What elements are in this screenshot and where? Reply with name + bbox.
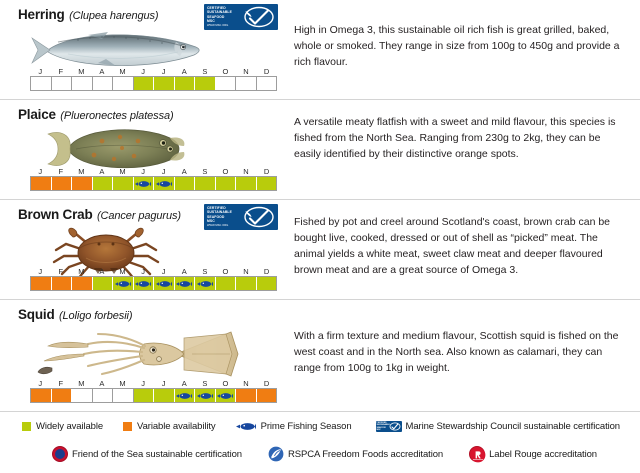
month-label: J [153, 267, 174, 276]
month-labels: J F M A M J J A S O N D [30, 379, 277, 388]
month-cell [195, 177, 216, 190]
month-label: A [92, 167, 113, 176]
month-label: A [174, 67, 195, 76]
month-cell [195, 389, 216, 402]
species-left-column: Squid (Loligo forbesii) [0, 300, 288, 411]
month-cell [52, 177, 73, 190]
month-cell [154, 389, 175, 402]
month-label: F [51, 67, 72, 76]
availability-calendar: J F M A M J J A S O N D [30, 67, 277, 91]
month-label: A [92, 267, 113, 276]
label-rouge-icon [469, 446, 485, 462]
month-labels: J F M A M J J A S O N D [30, 267, 277, 276]
month-label: J [153, 167, 174, 176]
month-cell [195, 277, 216, 290]
month-label: O [215, 267, 236, 276]
species-description: With a firm texture and medium flavour, … [294, 328, 630, 376]
month-label: J [30, 267, 51, 276]
month-label: S [195, 67, 216, 76]
legend-item-variable-availability: Variable availability [123, 421, 216, 432]
month-cell [52, 277, 73, 290]
species-right-column: High in Omega 3, this sustainable oil ri… [288, 0, 640, 99]
month-label: S [195, 167, 216, 176]
availability-cells [30, 76, 277, 91]
month-cell [257, 389, 277, 402]
month-label: J [30, 167, 51, 176]
month-label: N [236, 379, 257, 388]
month-label: M [112, 67, 133, 76]
month-label: J [133, 167, 154, 176]
month-cell [195, 77, 216, 90]
species-description: High in Omega 3, this sustainable oil ri… [294, 22, 630, 70]
legend-label: Prime Fishing Season [261, 421, 352, 432]
friend-of-the-sea-icon [52, 446, 68, 462]
species-title: Squid (Loligo forbesii) [18, 306, 288, 324]
month-label: F [51, 167, 72, 176]
plaice-illustration [18, 126, 288, 172]
legend-item-rspca-freedom-foods: RSPCA Freedom Foods accreditation [268, 446, 443, 462]
legend-item-prime-fishing-season: Prime Fishing Season [236, 421, 352, 432]
month-label: F [51, 267, 72, 276]
species-latin: (Cancer pagurus) [97, 210, 181, 222]
month-label: M [71, 267, 92, 276]
legend-label: Widely available [36, 421, 103, 432]
month-label: J [133, 67, 154, 76]
month-cell [93, 277, 114, 290]
availability-calendar: J F M A M J J A S O N D [30, 267, 277, 291]
month-cell [236, 277, 257, 290]
month-cell [93, 389, 114, 402]
species-name: Squid [18, 307, 55, 322]
species-description: Fished by pot and creel around Scotland'… [294, 214, 630, 278]
month-cell [257, 277, 277, 290]
month-cell [134, 77, 155, 90]
species-row-brown-crab: Brown Crab (Cancer pagurus) CERTIFIED SU… [0, 200, 640, 300]
month-label: N [236, 267, 257, 276]
species-description: A versatile meaty flatfish with a sweet … [294, 114, 630, 162]
species-left-column: Plaice (Plueronectes platessa) [0, 100, 288, 199]
legend: Widely available Variable availability P… [0, 415, 640, 473]
species-name: Plaice [18, 107, 56, 122]
legend-item-msc-certification: CERTIFIEDSUSTAINABLESEAFOODMSC Marine St… [376, 421, 620, 432]
species-right-column: Fished by pot and creel around Scotland'… [288, 200, 640, 299]
species-right-column: With a firm texture and medium flavour, … [288, 300, 640, 411]
legend-item-widely-available: Widely available [22, 421, 103, 432]
month-cell [175, 177, 196, 190]
species-left-column: Herring (Clupea harengus) CERTIFIED SUST… [0, 0, 288, 99]
month-label: A [174, 379, 195, 388]
month-label: D [256, 167, 277, 176]
month-cell [31, 277, 52, 290]
msc-badge-text: CERTIFIED SUSTAINABLE SEAFOOD MSC www.ms… [207, 206, 241, 228]
month-cell [154, 277, 175, 290]
month-cell [113, 177, 134, 190]
rspca-icon [268, 446, 284, 462]
month-cell [257, 177, 277, 190]
month-label: J [133, 379, 154, 388]
month-label: M [71, 379, 92, 388]
month-label: F [51, 379, 72, 388]
msc-fish-check-icon [241, 206, 275, 228]
month-label: M [71, 167, 92, 176]
month-label: A [92, 379, 113, 388]
month-cell [257, 77, 277, 90]
month-cell [154, 77, 175, 90]
month-cell [175, 77, 196, 90]
month-label: O [215, 167, 236, 176]
month-cell [72, 389, 93, 402]
legend-label: Label Rouge accreditation [489, 449, 597, 460]
month-label: A [92, 67, 113, 76]
month-label: O [215, 379, 236, 388]
month-label: M [112, 379, 133, 388]
month-label: A [174, 267, 195, 276]
species-left-column: Brown Crab (Cancer pagurus) CERTIFIED SU… [0, 200, 288, 299]
month-cell [236, 389, 257, 402]
month-cell [72, 77, 93, 90]
legend-item-label-rouge: Label Rouge accreditation [469, 446, 597, 462]
month-label: J [153, 67, 174, 76]
legend-label: Variable availability [137, 421, 216, 432]
month-cell [216, 277, 237, 290]
species-row-plaice: Plaice (Plueronectes platessa) [0, 100, 640, 200]
msc-fish-check-icon [241, 6, 275, 28]
month-label: J [153, 379, 174, 388]
month-label: N [236, 67, 257, 76]
month-label: S [195, 379, 216, 388]
species-row-squid: Squid (Loligo forbesii) [0, 300, 640, 412]
month-cell [216, 177, 237, 190]
month-cell [93, 77, 114, 90]
availability-cells [30, 388, 277, 403]
month-cell [134, 389, 155, 402]
species-latin: (Plueronectes platessa) [60, 110, 173, 122]
month-label: M [112, 167, 133, 176]
green-swatch-icon [22, 422, 31, 431]
month-label: O [215, 67, 236, 76]
availability-cells [30, 176, 277, 191]
availability-cells [30, 276, 277, 291]
month-cell [216, 389, 237, 402]
prime-fish-icon [236, 422, 256, 431]
month-cell [175, 277, 196, 290]
species-title: Plaice (Plueronectes platessa) [18, 106, 288, 124]
month-label: M [112, 267, 133, 276]
month-label: J [133, 267, 154, 276]
month-cell [52, 77, 73, 90]
species-name: Herring [18, 7, 65, 22]
month-cell [52, 389, 73, 402]
month-label: D [256, 267, 277, 276]
month-label: J [30, 379, 51, 388]
month-labels: J F M A M J J A S O N D [30, 167, 277, 176]
species-row-herring: Herring (Clupea harengus) CERTIFIED SUST… [0, 0, 640, 100]
month-label: D [256, 67, 277, 76]
herring-illustration [18, 26, 288, 72]
month-label: A [174, 167, 195, 176]
species-right-column: A versatile meaty flatfish with a sweet … [288, 100, 640, 199]
month-cell [93, 177, 114, 190]
month-cell [72, 177, 93, 190]
month-cell [72, 277, 93, 290]
month-cell [134, 177, 155, 190]
month-cell [31, 389, 52, 402]
availability-calendar: J F M A M J J A S O N D [30, 379, 277, 403]
month-cell [236, 77, 257, 90]
legend-label: RSPCA Freedom Foods accreditation [288, 449, 443, 460]
species-latin: (Clupea harengus) [69, 10, 158, 22]
month-label: M [71, 67, 92, 76]
month-cell [134, 277, 155, 290]
msc-badge-text: CERTIFIED SUSTAINABLE SEAFOOD MSC www.ms… [207, 6, 241, 28]
legend-label: Marine Stewardship Council sustainable c… [406, 421, 620, 432]
month-cell [154, 177, 175, 190]
seafood-availability-chart: Herring (Clupea harengus) CERTIFIED SUST… [0, 0, 640, 473]
month-labels: J F M A M J J A S O N D [30, 67, 277, 76]
month-cell [236, 177, 257, 190]
msc-badge-icon: CERTIFIEDSUSTAINABLESEAFOODMSC [376, 421, 402, 432]
month-label: D [256, 379, 277, 388]
month-cell [113, 277, 134, 290]
month-cell [31, 177, 52, 190]
availability-calendar: J F M A M J J A S O N D [30, 167, 277, 191]
month-cell [113, 77, 134, 90]
month-cell [216, 77, 237, 90]
legend-row-1: Widely available Variable availability P… [22, 421, 620, 432]
squid-illustration [18, 326, 288, 382]
mini-msc-text: CERTIFIEDSUSTAINABLESEAFOODMSC [377, 422, 388, 431]
month-cell [31, 77, 52, 90]
month-label: J [30, 67, 51, 76]
legend-row-2: Friend of the Sea sustainable certificat… [52, 446, 597, 462]
month-label: S [195, 267, 216, 276]
species-name: Brown Crab [18, 207, 93, 222]
orange-swatch-icon [123, 422, 132, 431]
month-label: N [236, 167, 257, 176]
month-cell [113, 389, 134, 402]
legend-label: Friend of the Sea sustainable certificat… [72, 449, 242, 460]
month-cell [175, 389, 196, 402]
legend-item-friend-of-the-sea: Friend of the Sea sustainable certificat… [52, 446, 242, 462]
species-latin: (Loligo forbesii) [59, 310, 133, 322]
